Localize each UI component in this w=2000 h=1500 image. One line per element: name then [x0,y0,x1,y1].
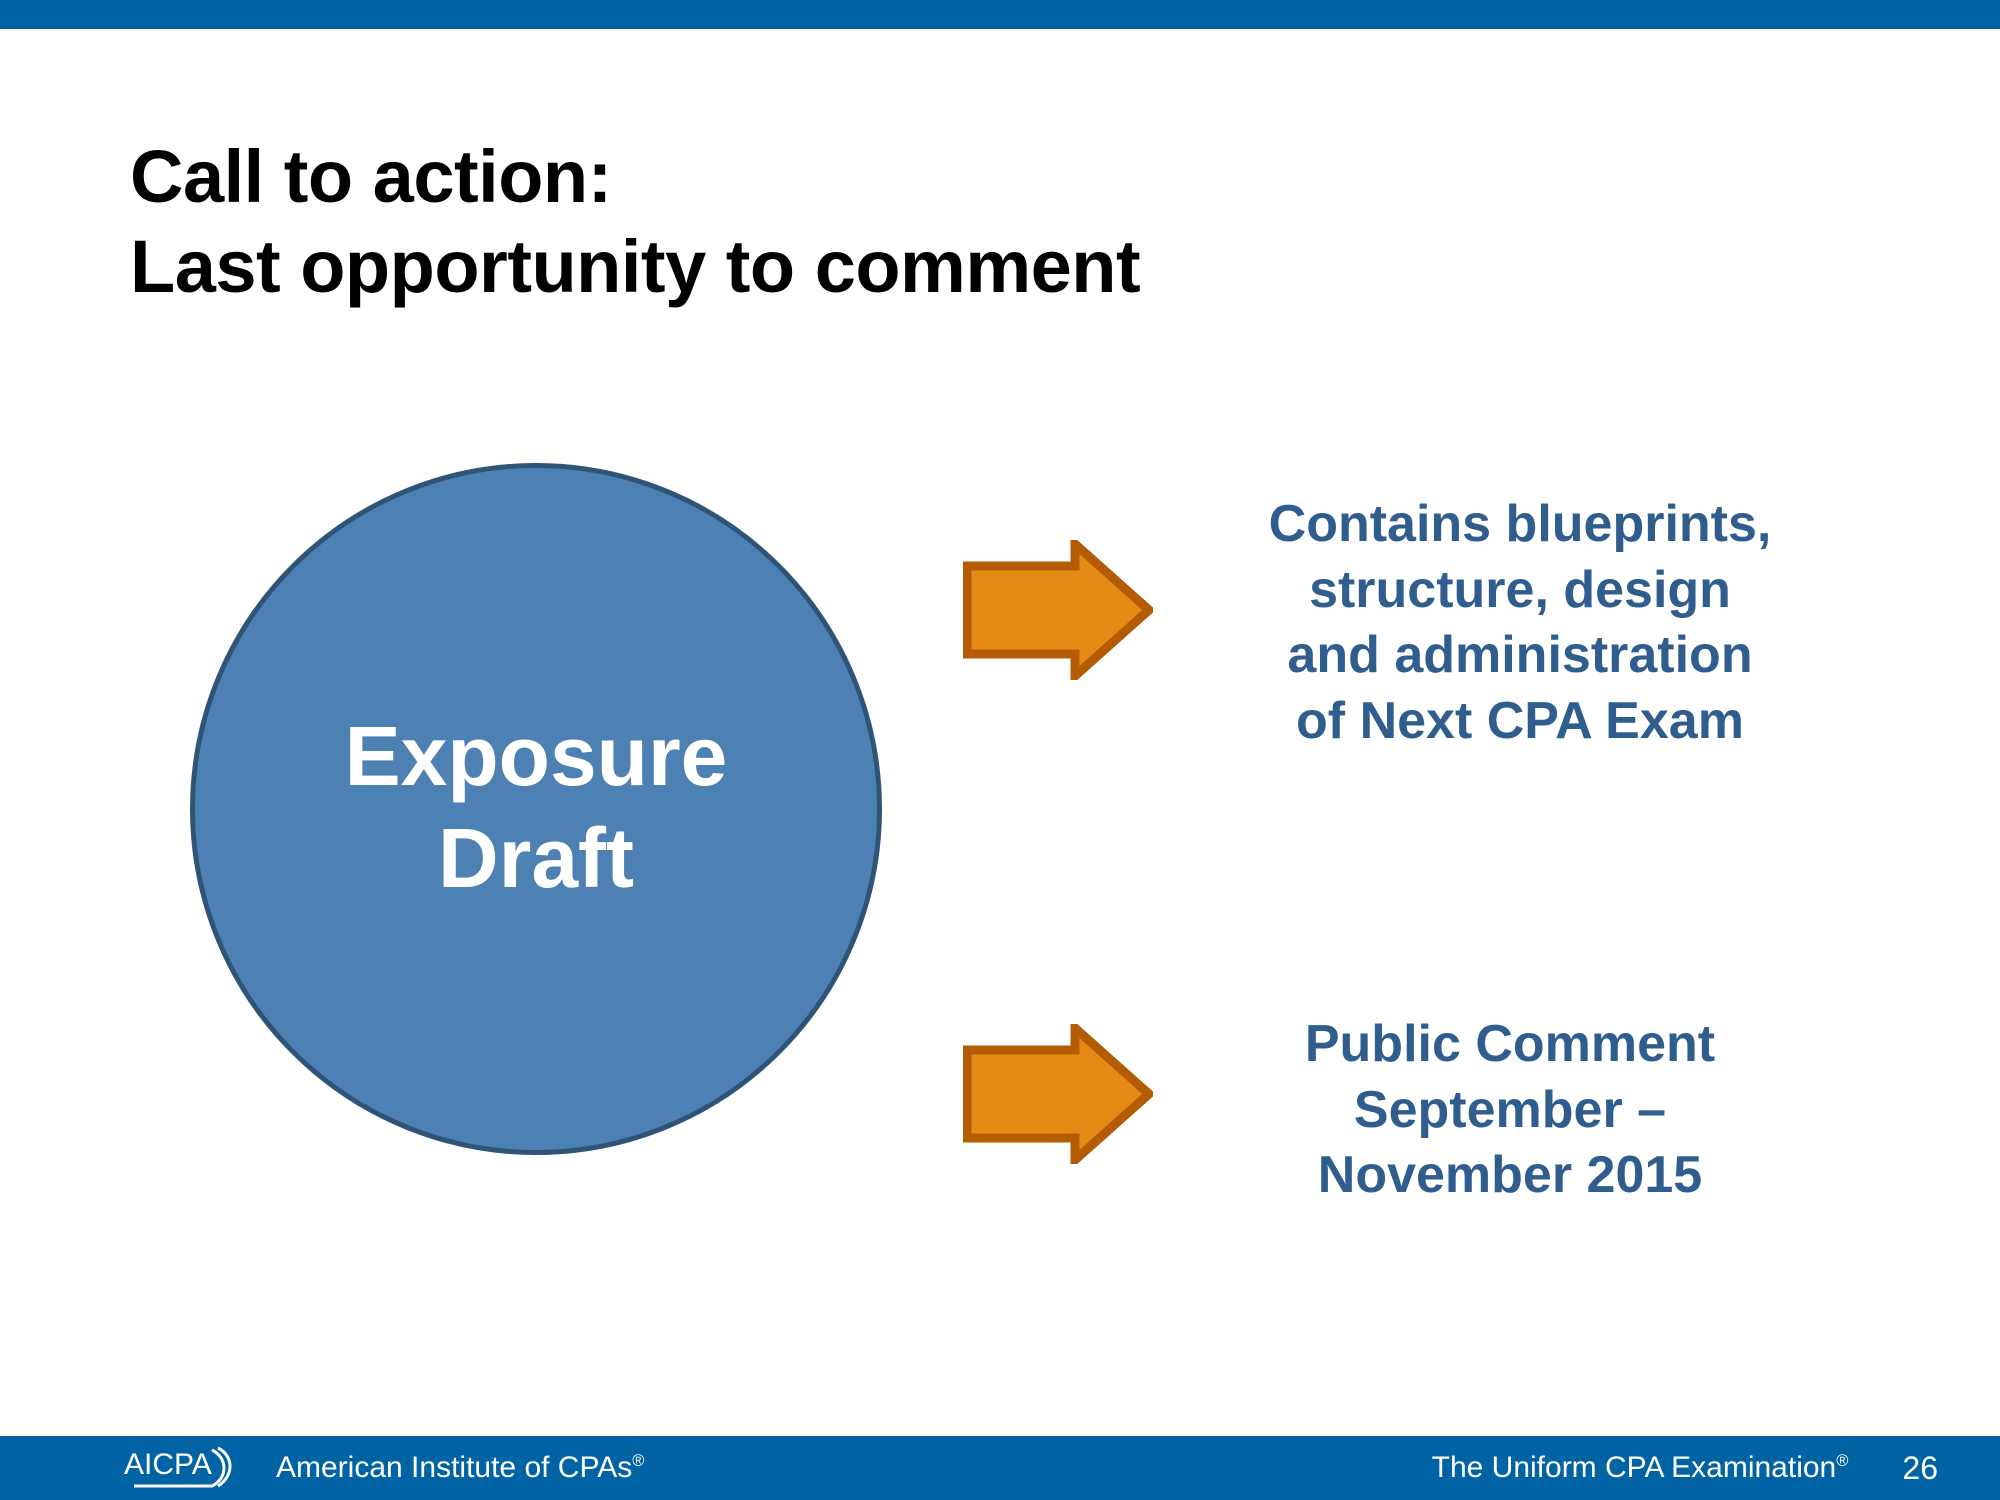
right-arrow-icon [963,540,1153,680]
footer-exam-label: The Uniform CPA Examination [1432,1451,1837,1484]
right-arrow-icon [963,1024,1153,1164]
title-line-2: Last opportunity to comment [130,222,1630,312]
top-accent-band [0,0,2000,29]
footer-right-group: The Uniform CPA Examination® 26 [1432,1450,1938,1487]
footer-brand-text: American Institute of CPAs® [276,1451,644,1485]
aicpa-logo-icon: AICPA [122,1444,262,1492]
exposure-draft-label: ExposureDraft [345,705,728,914]
footer-left-group: AICPA American Institute of CPAs® [122,1444,644,1492]
title-line-1: Call to action: [130,132,1630,222]
slide: Call to action: Last opportunity to comm… [0,0,2000,1500]
footer-bar: AICPA American Institute of CPAs® The Un… [0,1436,2000,1500]
page-title: Call to action: Last opportunity to comm… [130,132,1630,313]
registered-mark: ® [632,1452,644,1470]
circle-label-line-2: Draft [438,811,634,905]
footer-exam-text: The Uniform CPA Examination® [1432,1451,1849,1485]
callout-text-blueprints: Contains blueprints, structure, design a… [1190,492,1850,754]
registered-mark: ® [1836,1452,1848,1470]
circle-label-line-1: Exposure [345,709,728,803]
svg-text:AICPA: AICPA [124,1448,212,1481]
footer-brand-label: American Institute of CPAs [276,1451,632,1484]
exposure-draft-circle: ExposureDraft [190,463,882,1155]
page-number: 26 [1902,1450,1938,1487]
callout-text-public-comment: Public Comment September – November 2015 [1190,1012,1830,1209]
